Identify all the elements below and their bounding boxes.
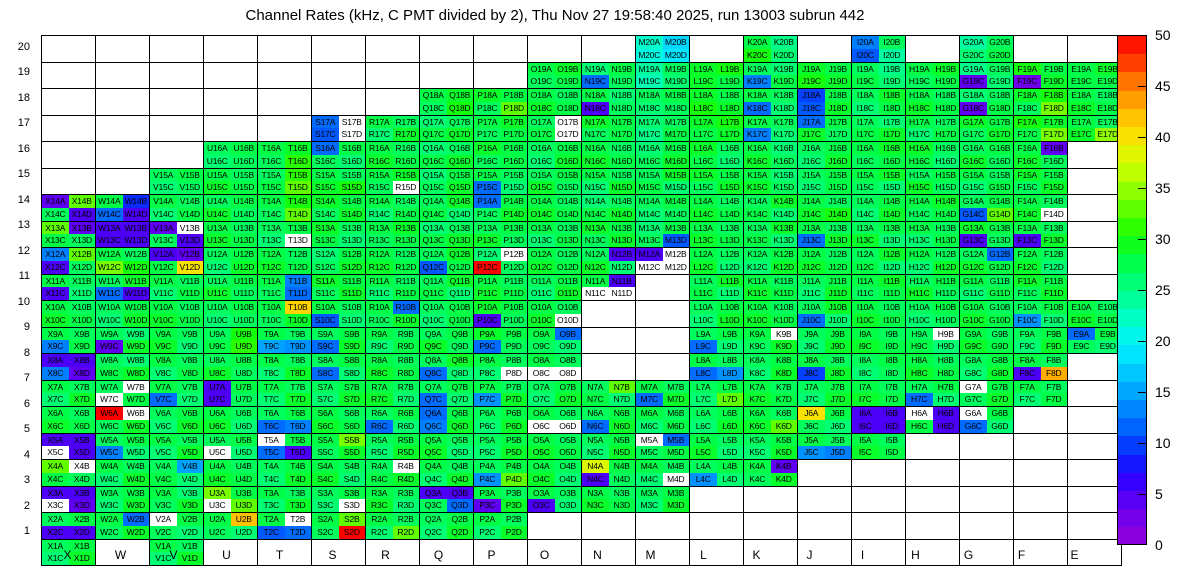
- module-cell-H17[interactable]: H17AH17BH17CH17D: [906, 115, 960, 142]
- module-cell-G13[interactable]: G13AG13BG13CG13D: [960, 221, 1014, 248]
- channel-M20A[interactable]: M20A: [636, 36, 663, 49]
- channel-U10B[interactable]: U10B: [231, 301, 258, 314]
- channel-O9B[interactable]: O9B: [555, 328, 582, 341]
- module-cell-S5[interactable]: S5AS5BS5CS5D: [312, 433, 366, 460]
- channel-L6D[interactable]: L6D: [717, 420, 744, 433]
- module-cell-O4[interactable]: O4AO4BO4CO4D: [528, 460, 582, 487]
- channel-N5A[interactable]: N5A: [582, 434, 609, 447]
- channel-S2C[interactable]: S2C: [312, 526, 339, 539]
- channel-W7A[interactable]: W7A: [96, 381, 123, 394]
- module-cell-T7[interactable]: T7AT7BT7CT7D: [258, 380, 312, 407]
- module-cell-X13[interactable]: X13AX13BX13CX13D: [42, 221, 96, 248]
- channel-R3D[interactable]: R3D: [393, 499, 420, 512]
- channel-X7B[interactable]: X7B: [69, 381, 96, 394]
- channel-W14A[interactable]: W14A: [96, 195, 123, 208]
- channel-F7C[interactable]: F7C: [1014, 393, 1041, 406]
- channel-S9B[interactable]: S9B: [339, 328, 366, 341]
- channel-X14A[interactable]: X14A: [42, 195, 69, 208]
- module-cell-P13[interactable]: P13AP13BP13CP13D: [474, 221, 528, 248]
- channel-V14C[interactable]: V14C: [150, 208, 177, 221]
- channel-V14B[interactable]: V14B: [177, 195, 204, 208]
- module-cell-E10[interactable]: E10AE10BE10CE10D: [1068, 301, 1122, 328]
- channel-F8D[interactable]: F8D: [1041, 367, 1068, 380]
- channel-O19D[interactable]: O19D: [555, 75, 582, 88]
- channel-L12C[interactable]: L12C: [690, 261, 717, 274]
- channel-R6C[interactable]: R6C: [366, 420, 393, 433]
- channel-G7D[interactable]: G7D: [987, 393, 1014, 406]
- channel-H10C[interactable]: H10C: [906, 314, 933, 327]
- channel-O4B[interactable]: O4B: [555, 460, 582, 473]
- channel-X9D[interactable]: X9D: [69, 340, 96, 353]
- module-cell-V11[interactable]: V11AV11BV11CV11D: [150, 274, 204, 301]
- channel-K14B[interactable]: K14B: [771, 195, 798, 208]
- channel-K11C[interactable]: K11C: [744, 287, 771, 300]
- channel-V9A[interactable]: V9A: [150, 328, 177, 341]
- channel-L16D[interactable]: L16D: [717, 155, 744, 168]
- channel-G11D[interactable]: G11D: [987, 287, 1014, 300]
- channel-L8B[interactable]: L8B: [717, 354, 744, 367]
- channel-W11D[interactable]: W11D: [123, 287, 150, 300]
- channel-S16D[interactable]: S16D: [339, 155, 366, 168]
- module-cell-R5[interactable]: R5AR5BR5CR5D: [366, 433, 420, 460]
- channel-Q3D[interactable]: Q3D: [447, 499, 474, 512]
- channel-V7C[interactable]: V7C: [150, 393, 177, 406]
- channel-X12C[interactable]: X12C: [42, 261, 69, 274]
- channel-O9A[interactable]: O9A: [528, 328, 555, 341]
- channel-I7C[interactable]: I7C: [852, 393, 879, 406]
- channel-K18A[interactable]: K18A: [744, 89, 771, 102]
- channel-L18C[interactable]: L18C: [690, 102, 717, 115]
- channel-H7A[interactable]: H7A: [906, 381, 933, 394]
- module-cell-Q18[interactable]: Q18AQ18BQ18CQ18D: [420, 89, 474, 116]
- channel-G17D[interactable]: G17D: [987, 128, 1014, 141]
- module-cell-G12[interactable]: G12AG12BG12CG12D: [960, 248, 1014, 275]
- channel-T9A[interactable]: T9A: [258, 328, 285, 341]
- channel-R10A[interactable]: R10A: [366, 301, 393, 314]
- module-cell-W4[interactable]: W4AW4BW4CW4D: [96, 460, 150, 487]
- module-cell-U15[interactable]: U15AU15BU15CU15D: [204, 168, 258, 195]
- channel-N17C[interactable]: N17C: [582, 128, 609, 141]
- module-cell-K7[interactable]: K7AK7BK7CK7D: [744, 380, 798, 407]
- channel-M19C[interactable]: M19C: [636, 75, 663, 88]
- module-cell-N19[interactable]: N19AN19BN19CN19D: [582, 62, 636, 89]
- channel-W3D[interactable]: W3D: [123, 499, 150, 512]
- module-cell-T8[interactable]: T8AT8BT8CT8D: [258, 354, 312, 381]
- channel-K8B[interactable]: K8B: [771, 354, 798, 367]
- channel-G20C[interactable]: G20C: [960, 49, 987, 62]
- channel-J19C[interactable]: J19C: [798, 75, 825, 88]
- channel-F15B[interactable]: F15B: [1041, 169, 1068, 182]
- channel-S10B[interactable]: S10B: [339, 301, 366, 314]
- channel-S3A[interactable]: S3A: [312, 487, 339, 500]
- channel-I10C[interactable]: I10C: [852, 314, 879, 327]
- channel-H6A[interactable]: H6A: [906, 407, 933, 420]
- channel-R16C[interactable]: R16C: [366, 155, 393, 168]
- channel-T15B[interactable]: T15B: [285, 169, 312, 182]
- module-cell-I17[interactable]: I17AI17BI17CI17D: [852, 115, 906, 142]
- channel-R17A[interactable]: R17A: [366, 116, 393, 129]
- channel-K15D[interactable]: K15D: [771, 181, 798, 194]
- channel-U13B[interactable]: U13B: [231, 222, 258, 235]
- channel-J14B[interactable]: J14B: [825, 195, 852, 208]
- channel-U5B[interactable]: U5B: [231, 434, 258, 447]
- module-cell-T6[interactable]: T6AT6BT6CT6D: [258, 407, 312, 434]
- channel-J8D[interactable]: J8D: [825, 367, 852, 380]
- channel-T7A[interactable]: T7A: [258, 381, 285, 394]
- channel-O6A[interactable]: O6A: [528, 407, 555, 420]
- channel-O15D[interactable]: O15D: [555, 181, 582, 194]
- channel-X7D[interactable]: X7D: [69, 393, 96, 406]
- channel-T6B[interactable]: T6B: [285, 407, 312, 420]
- channel-F15C[interactable]: F15C: [1014, 181, 1041, 194]
- module-cell-O7[interactable]: O7AO7BO7CO7D: [528, 380, 582, 407]
- channel-V7A[interactable]: V7A: [150, 381, 177, 394]
- channel-F16C[interactable]: F16C: [1014, 155, 1041, 168]
- channel-K10A[interactable]: K10A: [744, 301, 771, 314]
- channel-V15A[interactable]: V15A: [150, 169, 177, 182]
- channel-K16B[interactable]: K16B: [771, 142, 798, 155]
- channel-L5B[interactable]: L5B: [717, 434, 744, 447]
- channel-I17D[interactable]: I17D: [879, 128, 906, 141]
- channel-Q6C[interactable]: Q6C: [420, 420, 447, 433]
- channel-E10C[interactable]: E10C: [1068, 314, 1095, 327]
- channel-S13B[interactable]: S13B: [339, 222, 366, 235]
- channel-N7A[interactable]: N7A: [582, 381, 609, 394]
- channel-W9C[interactable]: W9C: [96, 340, 123, 353]
- channel-P9C[interactable]: P9C: [474, 340, 501, 353]
- channel-Q7A[interactable]: Q7A: [420, 381, 447, 394]
- channel-Q16A[interactable]: Q16A: [420, 142, 447, 155]
- channel-L5D[interactable]: L5D: [717, 446, 744, 459]
- channel-U4B[interactable]: U4B: [231, 460, 258, 473]
- channel-L16A[interactable]: L16A: [690, 142, 717, 155]
- channel-Q18B[interactable]: Q18B: [447, 89, 474, 102]
- channel-W2A[interactable]: W2A: [96, 513, 123, 526]
- channel-K9D[interactable]: K9D: [771, 340, 798, 353]
- module-cell-W10[interactable]: W10AW10BW10CW10D: [96, 301, 150, 328]
- channel-K16A[interactable]: K16A: [744, 142, 771, 155]
- channel-F16B[interactable]: F16B: [1041, 142, 1068, 155]
- channel-R13A[interactable]: R13A: [366, 222, 393, 235]
- channel-M6D[interactable]: M6D: [663, 420, 690, 433]
- channel-W11C[interactable]: W11C: [96, 287, 123, 300]
- channel-H9A[interactable]: H9A: [906, 328, 933, 341]
- channel-X3A[interactable]: X3A: [42, 487, 69, 500]
- module-cell-Q6[interactable]: Q6AQ6BQ6CQ6D: [420, 407, 474, 434]
- channel-O6D[interactable]: O6D: [555, 420, 582, 433]
- channel-N4D[interactable]: N4D: [609, 473, 636, 486]
- channel-W8C[interactable]: W8C: [96, 367, 123, 380]
- channel-H14A[interactable]: H14A: [906, 195, 933, 208]
- channel-N11C[interactable]: N11C: [582, 287, 609, 300]
- module-cell-R3[interactable]: R3AR3BR3CR3D: [366, 486, 420, 513]
- channel-T2A[interactable]: T2A: [258, 513, 285, 526]
- module-cell-Q2[interactable]: Q2AQ2BQ2CQ2D: [420, 513, 474, 540]
- channel-R17B[interactable]: R17B: [393, 116, 420, 129]
- module-cell-M12[interactable]: M12AM12BM12CM12D: [636, 248, 690, 275]
- channel-M14D[interactable]: M14D: [663, 208, 690, 221]
- module-cell-R15[interactable]: R15AR15BR15CR15D: [366, 168, 420, 195]
- channel-L17B[interactable]: L17B: [717, 116, 744, 129]
- module-cell-U3[interactable]: U3AU3BU3CU3D: [204, 486, 258, 513]
- channel-P14A[interactable]: P14A: [474, 195, 501, 208]
- channel-T8C[interactable]: T8C: [258, 367, 285, 380]
- module-cell-O12[interactable]: O12AO12BO12CO12D: [528, 248, 582, 275]
- channel-S17C[interactable]: S17C: [312, 128, 339, 141]
- channel-Q3B[interactable]: Q3B: [447, 487, 474, 500]
- module-cell-H18[interactable]: H18AH18BH18CH18D: [906, 89, 960, 116]
- channel-G15A[interactable]: G15A: [960, 169, 987, 182]
- channel-G9D[interactable]: G9D: [987, 340, 1014, 353]
- module-cell-I18[interactable]: I18AI18BI18CI18D: [852, 89, 906, 116]
- channel-H17D[interactable]: H17D: [933, 128, 960, 141]
- channel-N13D[interactable]: N13D: [609, 234, 636, 247]
- channel-O8D[interactable]: O8D: [555, 367, 582, 380]
- channel-F15A[interactable]: F15A: [1014, 169, 1041, 182]
- channel-G8B[interactable]: G8B: [987, 354, 1014, 367]
- channel-O18C[interactable]: O18C: [528, 102, 555, 115]
- module-cell-W13[interactable]: W13AW13BW13CW13D: [96, 221, 150, 248]
- module-cell-R14[interactable]: R14AR14BR14CR14D: [366, 195, 420, 222]
- channel-S3C[interactable]: S3C: [312, 499, 339, 512]
- channel-F8A[interactable]: F8A: [1014, 354, 1041, 367]
- channel-F19C[interactable]: F19C: [1014, 75, 1041, 88]
- channel-X10D[interactable]: X10D: [69, 314, 96, 327]
- channel-O14B[interactable]: O14B: [555, 195, 582, 208]
- channel-K13A[interactable]: K13A: [744, 222, 771, 235]
- channel-O12A[interactable]: O12A: [528, 248, 555, 261]
- channel-V4B[interactable]: V4B: [177, 460, 204, 473]
- channel-W11B[interactable]: W11B: [123, 275, 150, 288]
- channel-J17A[interactable]: J17A: [798, 116, 825, 129]
- channel-P6D[interactable]: P6D: [501, 420, 528, 433]
- channel-W10B[interactable]: W10B: [123, 301, 150, 314]
- channel-K19B[interactable]: K19B: [771, 63, 798, 76]
- channel-K7C[interactable]: K7C: [744, 393, 771, 406]
- channel-U7A[interactable]: U7A: [204, 381, 231, 394]
- channel-L14D[interactable]: L14D: [717, 208, 744, 221]
- module-cell-L9[interactable]: L9AL9BL9CL9D: [690, 327, 744, 354]
- channel-T7B[interactable]: T7B: [285, 381, 312, 394]
- channel-L10C[interactable]: L10C: [690, 314, 717, 327]
- channel-X9B[interactable]: X9B: [69, 328, 96, 341]
- channel-J9D[interactable]: J9D: [825, 340, 852, 353]
- channel-O18B[interactable]: O18B: [555, 89, 582, 102]
- module-cell-U8[interactable]: U8AU8BU8CU8D: [204, 354, 258, 381]
- channel-I13B[interactable]: I13B: [879, 222, 906, 235]
- channel-Q11D[interactable]: Q11D: [447, 287, 474, 300]
- module-cell-N11[interactable]: N11AN11BN11CN11D: [582, 274, 636, 301]
- module-cell-Q3[interactable]: Q3AQ3BQ3CQ3D: [420, 486, 474, 513]
- module-cell-U16[interactable]: U16AU16BU16CU16D: [204, 142, 258, 169]
- channel-G16C[interactable]: G16C: [960, 155, 987, 168]
- channel-J12A[interactable]: J12A: [798, 248, 825, 261]
- channel-R9A[interactable]: R9A: [366, 328, 393, 341]
- channel-P6A[interactable]: P6A: [474, 407, 501, 420]
- channel-N11A[interactable]: N11A: [582, 275, 609, 288]
- channel-O7B[interactable]: O7B: [555, 381, 582, 394]
- channel-H15C[interactable]: H15C: [906, 181, 933, 194]
- channel-I5B[interactable]: I5B: [879, 434, 906, 447]
- channel-H13A[interactable]: H13A: [906, 222, 933, 235]
- channel-T10A[interactable]: T10A: [258, 301, 285, 314]
- channel-K10D[interactable]: K10D: [771, 314, 798, 327]
- channel-H19D[interactable]: H19D: [933, 75, 960, 88]
- channel-O13A[interactable]: O13A: [528, 222, 555, 235]
- module-cell-R17[interactable]: R17AR17BR17CR17D: [366, 115, 420, 142]
- channel-F11D[interactable]: F11D: [1041, 287, 1068, 300]
- channel-V8D[interactable]: V8D: [177, 367, 204, 380]
- channel-W3A[interactable]: W3A: [96, 487, 123, 500]
- channel-X4C[interactable]: X4C: [42, 473, 69, 486]
- channel-H19C[interactable]: H19C: [906, 75, 933, 88]
- channel-W9B[interactable]: W9B: [123, 328, 150, 341]
- channel-Q7D[interactable]: Q7D: [447, 393, 474, 406]
- module-cell-N6[interactable]: N6AN6BN6CN6D: [582, 407, 636, 434]
- module-cell-I14[interactable]: I14AI14BI14CI14D: [852, 195, 906, 222]
- channel-W3B[interactable]: W3B: [123, 487, 150, 500]
- channel-P7C[interactable]: P7C: [474, 393, 501, 406]
- module-cell-N4[interactable]: N4AN4BN4CN4D: [582, 460, 636, 487]
- channel-H18D[interactable]: H18D: [933, 102, 960, 115]
- channel-Q10A[interactable]: Q10A: [420, 301, 447, 314]
- module-cell-J7[interactable]: J7AJ7BJ7CJ7D: [798, 380, 852, 407]
- channel-W2B[interactable]: W2B: [123, 513, 150, 526]
- channel-N18D[interactable]: N18D: [609, 102, 636, 115]
- module-cell-G15[interactable]: G15AG15BG15CG15D: [960, 168, 1014, 195]
- channel-G10B[interactable]: G10B: [987, 301, 1014, 314]
- module-cell-T5[interactable]: T5AT5BT5CT5D: [258, 433, 312, 460]
- channel-M7C[interactable]: M7C: [636, 393, 663, 406]
- channel-N15C[interactable]: N15C: [582, 181, 609, 194]
- module-cell-S15[interactable]: S15AS15BS15CS15D: [312, 168, 366, 195]
- module-cell-H6[interactable]: H6AH6BH6CH6D: [906, 407, 960, 434]
- channel-H12D[interactable]: H12D: [933, 261, 960, 274]
- channel-N15D[interactable]: N15D: [609, 181, 636, 194]
- channel-O11B[interactable]: O11B: [555, 275, 582, 288]
- channel-U8C[interactable]: U8C: [204, 367, 231, 380]
- module-cell-I8[interactable]: I8AI8BI8CI8D: [852, 354, 906, 381]
- channel-P15C[interactable]: P15C: [474, 181, 501, 194]
- channel-L19C[interactable]: L19C: [690, 75, 717, 88]
- module-cell-I16[interactable]: I16AI16BI16CI16D: [852, 142, 906, 169]
- channel-G11C[interactable]: G11C: [960, 287, 987, 300]
- channel-H14C[interactable]: H14C: [906, 208, 933, 221]
- channel-R7D[interactable]: R7D: [393, 393, 420, 406]
- module-cell-M15[interactable]: M15AM15BM15CM15D: [636, 168, 690, 195]
- channel-L10D[interactable]: L10D: [717, 314, 744, 327]
- channel-U12D[interactable]: U12D: [231, 261, 258, 274]
- module-cell-J10[interactable]: J10AJ10BJ10CJ10D: [798, 301, 852, 328]
- channel-J9C[interactable]: J9C: [798, 340, 825, 353]
- module-cell-R7[interactable]: R7AR7BR7CR7D: [366, 380, 420, 407]
- channel-W4D[interactable]: W4D: [123, 473, 150, 486]
- module-cell-T14[interactable]: T14AT14BT14CT14D: [258, 195, 312, 222]
- channel-P9B[interactable]: P9B: [501, 328, 528, 341]
- module-cell-S2[interactable]: S2AS2BS2CS2D: [312, 513, 366, 540]
- module-cell-O13[interactable]: O13AO13BO13CO13D: [528, 221, 582, 248]
- channel-M15D[interactable]: M15D: [663, 181, 690, 194]
- channel-R10D[interactable]: R10D: [393, 314, 420, 327]
- channel-O7A[interactable]: O7A: [528, 381, 555, 394]
- channel-W10D[interactable]: W10D: [123, 314, 150, 327]
- channel-W11A[interactable]: W11A: [96, 275, 123, 288]
- channel-S4B[interactable]: S4B: [339, 460, 366, 473]
- channel-L11C[interactable]: L11C: [690, 287, 717, 300]
- module-cell-L7[interactable]: L7AL7BL7CL7D: [690, 380, 744, 407]
- channel-S5C[interactable]: S5C: [312, 446, 339, 459]
- channel-M13D[interactable]: M13D: [663, 234, 690, 247]
- channel-F13C[interactable]: F13C: [1014, 234, 1041, 247]
- channel-Q11C[interactable]: Q11C: [420, 287, 447, 300]
- channel-U12B[interactable]: U12B: [231, 248, 258, 261]
- channel-M18A[interactable]: M18A: [636, 89, 663, 102]
- channel-P10D[interactable]: P10D: [501, 314, 528, 327]
- channel-G10D[interactable]: G10D: [987, 314, 1014, 327]
- channel-S15B[interactable]: S15B: [339, 169, 366, 182]
- module-cell-V8[interactable]: V8AV8BV8CV8D: [150, 354, 204, 381]
- channel-U6A[interactable]: U6A: [204, 407, 231, 420]
- channel-P13A[interactable]: P13A: [474, 222, 501, 235]
- channel-T11C[interactable]: T11C: [258, 287, 285, 300]
- channel-N12A[interactable]: N12A: [582, 248, 609, 261]
- module-cell-U6[interactable]: U6AU6BU6CU6D: [204, 407, 258, 434]
- module-cell-T9[interactable]: T9AT9BT9CT9D: [258, 327, 312, 354]
- channel-L7A[interactable]: L7A: [690, 381, 717, 394]
- channel-X2A[interactable]: X2A: [42, 513, 69, 526]
- channel-X5D[interactable]: X5D: [69, 446, 96, 459]
- channel-L9B[interactable]: L9B: [717, 328, 744, 341]
- channel-S3D[interactable]: S3D: [339, 499, 366, 512]
- channel-K19C[interactable]: K19C: [744, 75, 771, 88]
- channel-R11B[interactable]: R11B: [393, 275, 420, 288]
- channel-S2D[interactable]: S2D: [339, 526, 366, 539]
- channel-Q12D[interactable]: Q12D: [447, 261, 474, 274]
- channel-I20D[interactable]: I20D: [879, 49, 906, 62]
- channel-Q2C[interactable]: Q2C: [420, 526, 447, 539]
- channel-F13B[interactable]: F13B: [1041, 222, 1068, 235]
- channel-S8D[interactable]: S8D: [339, 367, 366, 380]
- channel-Q9A[interactable]: Q9A: [420, 328, 447, 341]
- module-cell-K5[interactable]: K5AK5BK5CK5D: [744, 433, 798, 460]
- module-cell-J13[interactable]: J13AJ13BJ13CJ13D: [798, 221, 852, 248]
- channel-V5D[interactable]: V5D: [177, 446, 204, 459]
- module-cell-V2[interactable]: V2AV2BV2CV2D: [150, 513, 204, 540]
- module-cell-W5[interactable]: W5AW5BW5CW5D: [96, 433, 150, 460]
- channel-J11A[interactable]: J11A: [798, 275, 825, 288]
- channel-S12B[interactable]: S12B: [339, 248, 366, 261]
- channel-W9A[interactable]: W9A: [96, 328, 123, 341]
- channel-I13A[interactable]: I13A: [852, 222, 879, 235]
- channel-I9D[interactable]: I9D: [879, 340, 906, 353]
- channel-Q17A[interactable]: Q17A: [420, 116, 447, 129]
- channel-O11A[interactable]: O11A: [528, 275, 555, 288]
- channel-R16D[interactable]: R16D: [393, 155, 420, 168]
- channel-O17C[interactable]: O17C: [528, 128, 555, 141]
- channel-S13C[interactable]: S13C: [312, 234, 339, 247]
- module-cell-Q10[interactable]: Q10AQ10BQ10CQ10D: [420, 301, 474, 328]
- module-cell-L16[interactable]: L16AL16BL16CL16D: [690, 142, 744, 169]
- channel-J13D[interactable]: J13D: [825, 234, 852, 247]
- channel-W13A[interactable]: W13A: [96, 222, 123, 235]
- channel-W13B[interactable]: W13B: [123, 222, 150, 235]
- channel-J12B[interactable]: J12B: [825, 248, 852, 261]
- channel-P7D[interactable]: P7D: [501, 393, 528, 406]
- channel-V3A[interactable]: V3A: [150, 487, 177, 500]
- channel-F10B[interactable]: F10B: [1041, 301, 1068, 314]
- channel-P14C[interactable]: P14C: [474, 208, 501, 221]
- channel-I5A[interactable]: I5A: [852, 434, 879, 447]
